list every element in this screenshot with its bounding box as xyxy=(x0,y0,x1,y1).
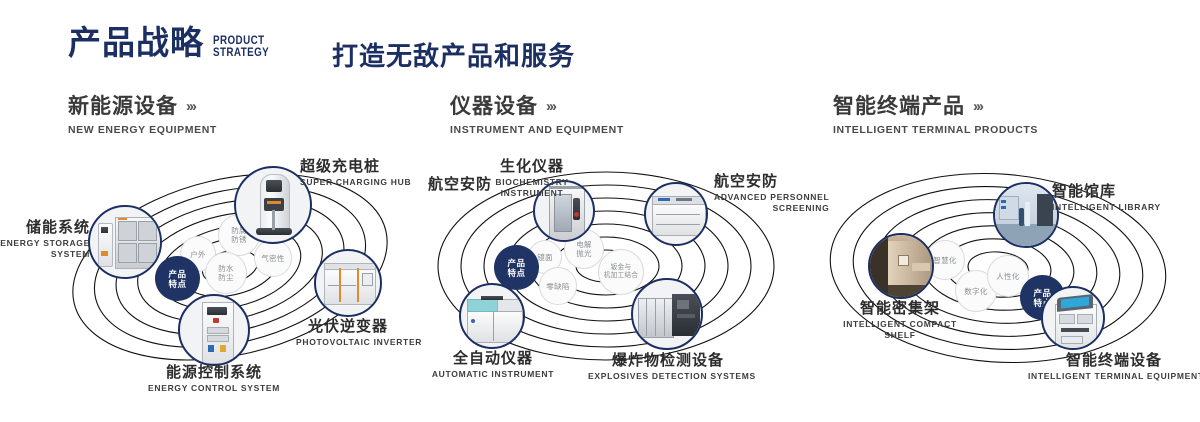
automatic-instrument-photo xyxy=(461,285,523,347)
section-title-cn: 仪器设备 xyxy=(450,95,538,118)
node-energy-storage-system[interactable] xyxy=(88,205,162,279)
caption-intelligent-terminal-equipment: 智能终端设备 INTELLIGENT TERMINAL EQUIPMENT xyxy=(1028,352,1200,382)
caption-intelligent-compact-shelf: 智能密集架 INTELLIGENT COMPACT SHELF xyxy=(830,300,970,341)
caption-photovoltaic-inverter: 光伏逆变器 PHOTOVOLTAIC INVERTER xyxy=(296,318,400,348)
feature-bubble-zero-defect: 零缺陷 xyxy=(539,267,577,305)
section-title-en: INTELLIGENT TERMINAL PRODUCTS xyxy=(833,124,1038,136)
control-system-photo xyxy=(180,296,248,364)
section-title-cn: 智能终端产品 xyxy=(833,95,965,118)
node-intelligent-library[interactable] xyxy=(993,182,1059,248)
poster-title-en-line2: STRATEGY xyxy=(213,46,269,58)
section-title-instrument: 仪器设备››› INSTRUMENT AND EQUIPMENT xyxy=(450,96,624,136)
caption-explosives-detection-systems: 爆炸物检测设备 EXPLOSIVES DETECTION SYSTEMS xyxy=(588,352,748,382)
explosives-detection-photo xyxy=(633,280,701,348)
poster-canvas: 产品战略 PRODUCT STRATEGY 打造无敌产品和服务 新能源设备›››… xyxy=(0,0,1200,422)
feature-bubble-airtight: 气密性 xyxy=(254,239,292,277)
inverter-photo xyxy=(316,251,380,315)
chevron-right-icon: ››› xyxy=(186,99,195,114)
section-title-cn: 新能源设备 xyxy=(68,95,178,118)
node-automatic-instrument[interactable] xyxy=(459,283,525,349)
energy-storage-photo xyxy=(90,207,160,277)
section-title-en: INSTRUMENT AND EQUIPMENT xyxy=(450,124,624,136)
terminal-equipment-photo xyxy=(1043,288,1103,348)
poster-title: 产品战略 PRODUCT STRATEGY xyxy=(68,26,281,59)
poster-title-en: PRODUCT STRATEGY xyxy=(213,34,269,58)
caption-intelligent-library: 智能馆库 INTELLIGENT LIBRARY xyxy=(1052,183,1161,213)
caption-energy-control-system: 能源控制系统 ENERGY CONTROL SYSTEM xyxy=(124,364,304,394)
screening-photo xyxy=(646,184,706,244)
charging-hub-photo xyxy=(236,168,310,242)
poster-subtitle: 打造无敌产品和服务 xyxy=(332,36,575,73)
node-energy-control-system[interactable] xyxy=(178,294,250,366)
section-title-en: NEW ENERGY EQUIPMENT xyxy=(68,124,217,136)
node-intelligent-compact-shelf[interactable] xyxy=(868,233,934,299)
chevron-right-icon: ››› xyxy=(546,99,555,114)
node-intelligent-terminal-equipment[interactable] xyxy=(1041,286,1105,350)
caption-biochemistry-instrument: 生化仪器 BIOCHEMISTRY INSTRUMENT xyxy=(452,158,612,199)
node-explosives-detection-systems[interactable] xyxy=(631,278,703,350)
section-title-intelligent-terminal: 智能终端产品››› INTELLIGENT TERMINAL PRODUCTS xyxy=(833,96,1038,136)
chevron-right-icon: ››› xyxy=(973,99,982,114)
poster-title-cn: 产品战略 xyxy=(68,26,204,59)
caption-automatic-instrument: 全自动仪器 AUTOMATIC INSTRUMENT xyxy=(420,350,566,380)
node-advanced-personnel-screening[interactable] xyxy=(644,182,708,246)
compact-shelf-photo xyxy=(870,235,932,297)
caption-super-charging-hub: 超级充电桩 SUPER CHARGING HUB xyxy=(300,158,411,188)
product-feature-badge-new-energy: 产品 特点 xyxy=(155,256,200,301)
intelligent-library-photo xyxy=(995,184,1057,246)
feature-bubble-waterproof: 防水 防尘 xyxy=(205,252,247,294)
node-photovoltaic-inverter[interactable] xyxy=(314,249,382,317)
section-title-new-energy: 新能源设备››› NEW ENERGY EQUIPMENT xyxy=(68,96,217,136)
caption-energy-storage-system: 储能系统 ENERGY STORAGE SYSTEM xyxy=(0,219,90,260)
